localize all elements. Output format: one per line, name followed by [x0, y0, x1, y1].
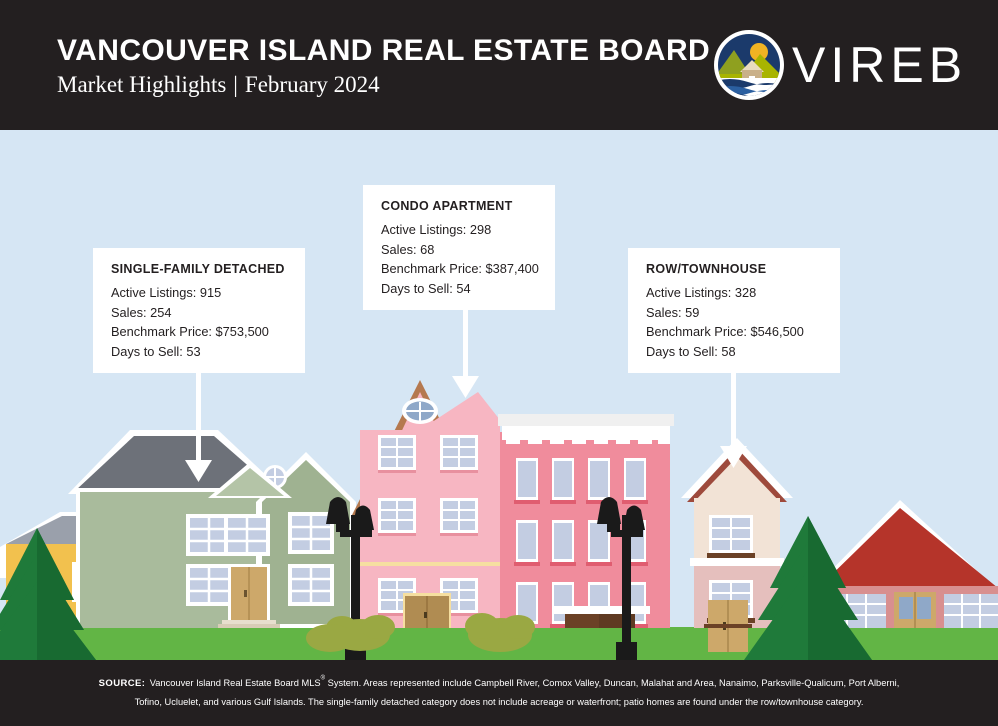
metric-benchmark-price: Benchmark Price: $387,400 — [381, 259, 539, 279]
house-single-family-detached — [68, 430, 356, 628]
building-apartment-block — [498, 414, 674, 628]
infographic-page: VANCOUVER ISLAND REAL ESTATE BOARD Marke… — [0, 0, 998, 726]
bush-left — [306, 624, 354, 652]
info-box-title: ROW/TOWNHOUSE — [646, 262, 824, 276]
metric-active-listings: Active Listings: 298 — [381, 220, 539, 240]
info-box-title: CONDO APARTMENT — [381, 199, 539, 213]
metric-active-listings: Active Listings: 915 — [111, 283, 289, 303]
vireb-logo: VIREB — [712, 28, 974, 104]
page-title: VANCOUVER ISLAND REAL ESTATE BOARD — [57, 34, 710, 68]
building-condo-apartment — [352, 380, 500, 628]
arrow-single-family-detached — [185, 373, 212, 482]
source-line-1a: Vancouver Island Real Estate Board MLS — [150, 678, 321, 688]
source-note: SOURCE: Vancouver Island Real Estate Boa… — [0, 673, 998, 711]
info-box-single-family-detached[interactable]: SINGLE-FAMILY DETACHED Active Listings: … — [93, 248, 305, 373]
source-line-2: Tofino, Ucluelet, and various Gulf Islan… — [0, 693, 998, 711]
metric-sales: Sales: 254 — [111, 303, 289, 323]
metric-benchmark-price: Benchmark Price: $753,500 — [111, 322, 289, 342]
info-box-title: SINGLE-FAMILY DETACHED — [111, 262, 289, 276]
metric-benchmark-price: Benchmark Price: $546,500 — [646, 322, 824, 342]
metric-sales: Sales: 68 — [381, 240, 539, 260]
metric-days-to-sell: Days to Sell: 54 — [381, 279, 539, 299]
header-bar: VANCOUVER ISLAND REAL ESTATE BOARD Marke… — [0, 0, 998, 130]
metric-sales: Sales: 59 — [646, 303, 824, 323]
vireb-emblem-icon — [712, 28, 786, 102]
source-label: SOURCE: — [99, 678, 146, 689]
subtitle-separator: | — [226, 72, 245, 97]
footer-bar: SOURCE: Vancouver Island Real Estate Boa… — [0, 660, 998, 726]
source-line-1b: System. Areas represented include Campbe… — [325, 678, 899, 688]
subtitle-market-highlights: Market Highlights — [57, 72, 226, 97]
info-box-row-townhouse[interactable]: ROW/TOWNHOUSE Active Listings: 328 Sales… — [628, 248, 840, 373]
metric-days-to-sell: Days to Sell: 58 — [646, 342, 824, 362]
townhouse-door — [704, 600, 752, 652]
info-box-condo-apartment[interactable]: CONDO APARTMENT Active Listings: 298 Sal… — [363, 185, 555, 310]
page-subtitle: Market Highlights|February 2024 — [57, 72, 380, 98]
subtitle-period: February 2024 — [245, 72, 380, 97]
arrow-condo-apartment — [452, 310, 479, 398]
vireb-wordmark: VIREB — [792, 36, 967, 94]
metric-active-listings: Active Listings: 328 — [646, 283, 824, 303]
metric-days-to-sell: Days to Sell: 53 — [111, 342, 289, 362]
